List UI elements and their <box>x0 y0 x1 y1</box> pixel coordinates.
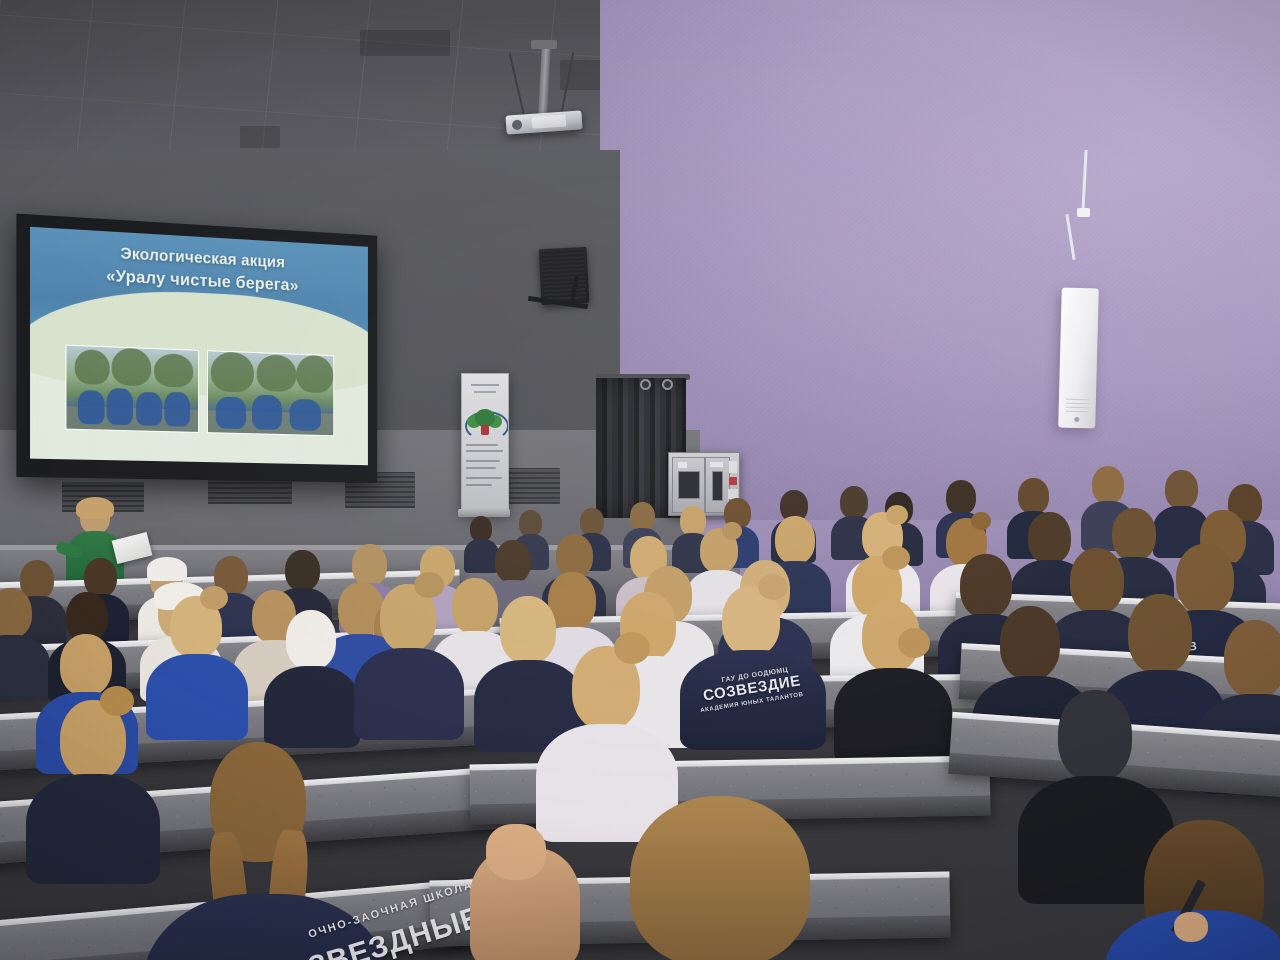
banner-text-line <box>466 484 492 486</box>
cabinet-label <box>710 462 723 467</box>
body-blue-jacket <box>146 654 248 740</box>
head <box>286 610 336 670</box>
head <box>519 510 542 537</box>
head <box>1128 594 1192 674</box>
head <box>960 554 1012 618</box>
logo-emblem <box>481 425 489 435</box>
slide-photo-tree <box>211 351 254 393</box>
head <box>580 508 604 536</box>
cabinet-label <box>678 462 687 468</box>
hair-bun <box>100 686 134 716</box>
body <box>0 635 50 699</box>
purifier-vent-line <box>1065 402 1089 404</box>
hair-bun <box>614 632 650 664</box>
hair-bun <box>971 512 991 530</box>
body <box>26 774 160 884</box>
head <box>500 596 556 664</box>
lecture-hall-photo: Экологическая акция «Уралу чистые берега… <box>0 0 1280 960</box>
slide-photo-person <box>107 388 133 425</box>
grommet-icon <box>662 379 673 390</box>
head <box>946 480 976 515</box>
hair-bun <box>886 505 908 525</box>
hair-bun <box>898 628 930 658</box>
head <box>1165 470 1198 509</box>
projection-screen: Экологическая акция «Уралу чистые берега… <box>30 227 368 465</box>
head-dark-hood <box>1058 690 1132 782</box>
banner-text-line <box>466 467 495 469</box>
curtain-grommets <box>640 379 673 390</box>
head <box>1028 512 1071 564</box>
grommet-icon <box>640 379 651 390</box>
purifier-vent-line <box>1065 411 1089 413</box>
purifier-indicator-icon <box>1075 417 1080 422</box>
speaker-grille <box>542 250 587 302</box>
ceiling-tile-dark <box>240 126 280 148</box>
wall-speaker <box>539 247 590 305</box>
slide-photo-tree <box>75 349 110 385</box>
banner-eco-logo-icon <box>463 407 507 441</box>
head <box>1224 620 1280 698</box>
head <box>1092 466 1124 504</box>
body <box>354 648 464 740</box>
head <box>840 486 868 519</box>
purifier-vent-line <box>1065 407 1089 409</box>
cabinet-sign <box>729 461 737 473</box>
slide-photo-tree <box>297 354 334 393</box>
purifier-clip <box>1077 208 1090 217</box>
banner-text-line <box>466 444 498 446</box>
hand-foreground <box>486 824 546 880</box>
fire-symbol-icon <box>729 477 737 485</box>
wall-air-purifier[interactable] <box>1058 288 1099 429</box>
projection-screen-frame: Экологическая акция «Уралу чистые берега… <box>16 214 377 483</box>
slide-photo-person <box>289 399 321 432</box>
slide-photo-right <box>207 350 334 436</box>
presenter-hair <box>76 497 114 519</box>
projector-lens-icon <box>512 120 523 131</box>
cabinet-window <box>712 471 723 501</box>
projector-ceiling-plate <box>531 40 557 49</box>
headscarf <box>147 557 187 581</box>
head <box>285 550 320 591</box>
head <box>775 516 815 564</box>
head <box>680 506 706 536</box>
banner-text-line <box>466 460 500 462</box>
head <box>1018 478 1049 514</box>
rollup-banner <box>461 373 509 514</box>
body-black-hoodie <box>834 668 952 764</box>
head <box>1000 606 1060 680</box>
slide-photo-tree <box>112 347 151 386</box>
banner-top-text <box>474 391 496 393</box>
hair-bun <box>758 574 788 600</box>
slide-photo-person <box>165 391 191 426</box>
head <box>1112 508 1156 561</box>
slide-photo-person <box>216 396 246 429</box>
body <box>264 666 360 748</box>
head <box>352 544 387 586</box>
hand <box>1174 912 1208 942</box>
banner-text-line <box>466 477 502 479</box>
head <box>1176 544 1234 614</box>
head <box>495 540 531 583</box>
slide-photo-person <box>252 394 282 430</box>
projector-top-highlight <box>532 114 567 128</box>
banner-text-line <box>466 450 503 452</box>
head <box>630 796 810 960</box>
cabinet-window <box>678 471 700 499</box>
purifier-vent-line <box>1066 398 1090 400</box>
head <box>630 502 655 531</box>
hair-bun <box>414 572 444 598</box>
slide-photo-person <box>136 392 162 425</box>
head <box>452 578 498 634</box>
slide-photo-tree <box>257 354 297 392</box>
hair-bun <box>722 522 742 540</box>
hair-bun <box>200 586 228 610</box>
cabinet-door-left[interactable] <box>672 457 705 513</box>
slide-photo-left <box>66 344 200 432</box>
head <box>60 634 112 696</box>
slide: Экологическая акция «Уралу чистые берега… <box>30 227 368 465</box>
head <box>0 588 32 638</box>
ceiling-tile-dark <box>360 30 450 56</box>
slide-photo-person <box>77 390 104 424</box>
slide-photo-tree <box>154 354 193 388</box>
head <box>1070 548 1124 614</box>
body <box>464 539 499 573</box>
hair-bun <box>882 546 910 570</box>
banner-top-text <box>471 384 499 386</box>
